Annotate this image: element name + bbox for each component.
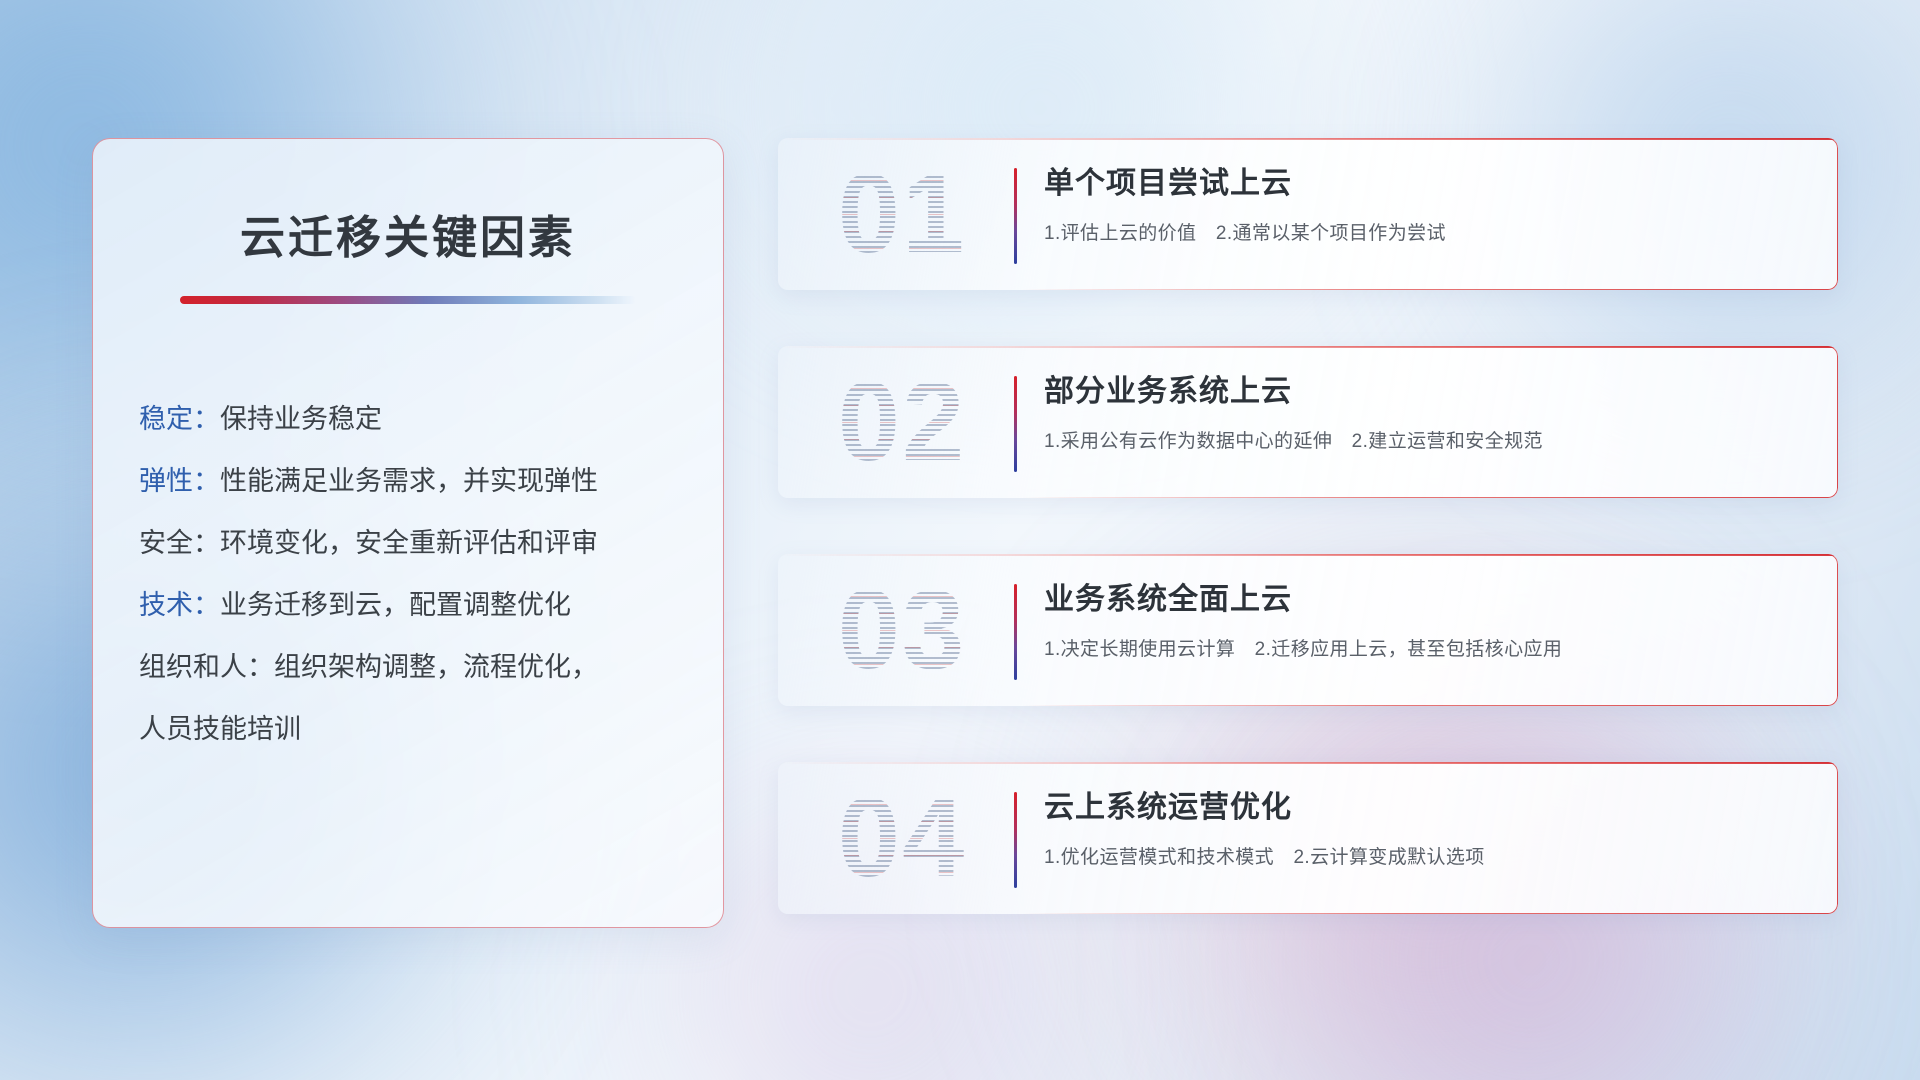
stage-card-body: 单个项目尝试上云1.评估上云的价值 2.通常以某个项目作为尝试 [1044,162,1812,248]
factor-label: 稳定： [139,404,220,434]
stage-card-description: 1.决定长期使用云计算 2.迁移应用上云，甚至包括核心应用 [1044,636,1812,664]
factor-line: 技术：业务迁移到云，配置调整优化 [139,574,683,636]
factor-text: 业务迁移到云，配置调整优化 [220,590,571,620]
stage-card-description: 1.优化运营模式和技术模式 2.云计算变成默认选项 [1044,844,1812,872]
factor-line: 安全：环境变化，安全重新评估和评审 [139,512,683,574]
stage-card-body: 云上系统运营优化1.优化运营模式和技术模式 2.云计算变成默认选项 [1044,786,1812,872]
factor-text: 人员技能培训 [139,714,301,744]
factor-text: 组织架构调整，流程优化， [274,652,598,682]
stage-card-title: 业务系统全面上云 [1044,578,1812,622]
stage-number-tint: 02 [812,354,992,490]
title-underline-rule [180,296,636,304]
factor-label: 安全： [139,528,220,558]
slide-stage: 云迁移关键因素 稳定：保持业务稳定弹性：性能满足业务需求，并实现弹性安全：环境变… [0,0,1920,1080]
stage-card-list: 0101单个项目尝试上云1.评估上云的价值 2.通常以某个项目作为尝试0202部… [778,138,1838,970]
stage-card[interactable]: 0303业务系统全面上云1.决定长期使用云计算 2.迁移应用上云，甚至包括核心应… [778,554,1838,706]
stage-card-description: 1.评估上云的价值 2.通常以某个项目作为尝试 [1044,220,1812,248]
factor-text: 环境变化，安全重新评估和评审 [220,528,598,558]
accent-divider [1014,584,1017,680]
factor-line: 弹性：性能满足业务需求，并实现弹性 [139,450,683,512]
factor-label: 组织和人： [139,652,274,682]
stage-number-tint: 04 [812,770,992,906]
stage-card-body: 业务系统全面上云1.决定长期使用云计算 2.迁移应用上云，甚至包括核心应用 [1044,578,1812,664]
stage-card-title: 单个项目尝试上云 [1044,162,1812,206]
stage-card-title: 云上系统运营优化 [1044,786,1812,830]
stage-card[interactable]: 0202部分业务系统上云1.采用公有云作为数据中心的延伸 2.建立运营和安全规范 [778,346,1838,498]
stage-card[interactable]: 0101单个项目尝试上云1.评估上云的价值 2.通常以某个项目作为尝试 [778,138,1838,290]
stage-number-tint: 03 [812,562,992,698]
accent-divider [1014,168,1017,264]
factor-text: 性能满足业务需求，并实现弹性 [220,466,598,496]
factor-list: 稳定：保持业务稳定弹性：性能满足业务需求，并实现弹性安全：环境变化，安全重新评估… [93,388,723,760]
stage-card-description: 1.采用公有云作为数据中心的延伸 2.建立运营和安全规范 [1044,428,1812,456]
factor-label: 技术： [139,590,220,620]
factor-line: 组织和人：组织架构调整，流程优化， [139,636,683,698]
stage-card-body: 部分业务系统上云1.采用公有云作为数据中心的延伸 2.建立运营和安全规范 [1044,370,1812,456]
factor-line: 人员技能培训 [139,698,683,760]
key-factors-panel: 云迁移关键因素 稳定：保持业务稳定弹性：性能满足业务需求，并实现弹性安全：环境变… [92,138,724,928]
stage-card[interactable]: 0404云上系统运营优化1.优化运营模式和技术模式 2.云计算变成默认选项 [778,762,1838,914]
factor-label: 弹性： [139,466,220,496]
stage-number-tint: 01 [812,146,992,282]
accent-divider [1014,792,1017,888]
page-title: 云迁移关键因素 [93,201,723,266]
stage-card-title: 部分业务系统上云 [1044,370,1812,414]
accent-divider [1014,376,1017,472]
factor-text: 保持业务稳定 [220,404,382,434]
factor-line: 稳定：保持业务稳定 [139,388,683,450]
